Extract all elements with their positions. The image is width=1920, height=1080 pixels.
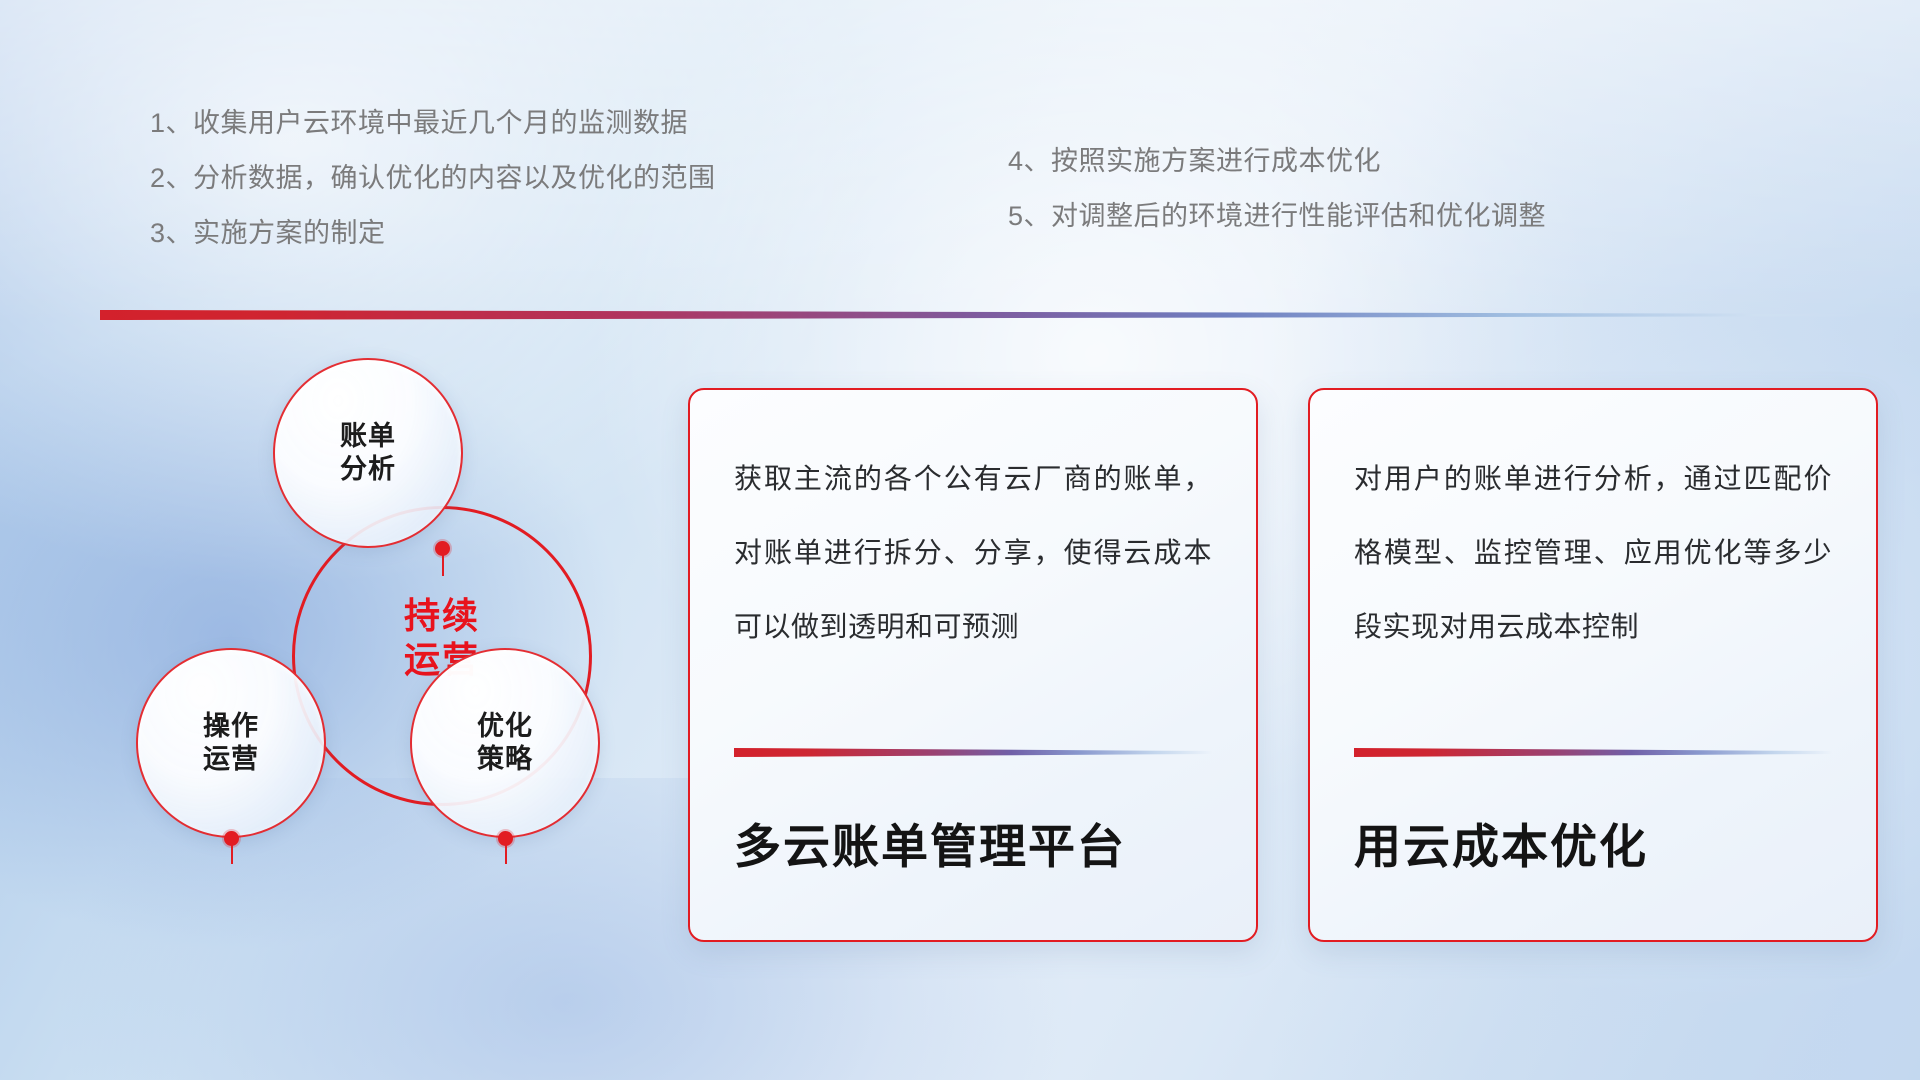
diagram-bubble-operations[interactable]: 操作 运营 <box>136 648 326 838</box>
header-divider <box>100 310 1860 320</box>
diagram-connector-left <box>231 844 233 864</box>
diagram-connector-top <box>442 554 444 576</box>
diagram-node-dot-top <box>435 541 450 556</box>
diagram-node-dot-right <box>498 831 513 846</box>
step-item-1: 1、收集用户云环境中最近几个月的监测数据 <box>150 96 716 151</box>
slide-canvas: 1、收集用户云环境中最近几个月的监测数据 2、分析数据，确认优化的内容以及优化的… <box>0 0 1920 1080</box>
card-1-title: 多云账单管理平台 <box>734 808 1226 877</box>
step-item-3: 3、实施方案的制定 <box>150 206 716 261</box>
card-2-title: 用云成本优化 <box>1354 808 1846 877</box>
diagram-node-dot-left <box>224 831 239 846</box>
bubble-top-line-1: 账单 <box>340 420 396 453</box>
card-2-rule <box>1354 748 1832 757</box>
diagram-center-label-line-1: 持续 <box>292 594 592 638</box>
continuous-operation-diagram: 持续 运营 账单 分析 操作 运营 优化 策略 <box>96 358 616 918</box>
card-1-rule <box>734 748 1212 757</box>
header-divider-bar <box>100 310 1860 320</box>
bubble-top-line-2: 分析 <box>340 453 396 486</box>
card-2-body: 对用户的账单进行分析，通过匹配价格模型、监控管理、应用优化等多少段实现对用云成本… <box>1354 442 1832 664</box>
card-multi-cloud-billing-platform[interactable]: 获取主流的各个公有云厂商的账单，对账单进行拆分、分享，使得云成本可以做到透明和可… <box>688 388 1258 942</box>
bubble-left-line-2: 运营 <box>203 743 259 776</box>
bubble-left-line-1: 操作 <box>203 710 259 743</box>
card-cloud-cost-optimization[interactable]: 对用户的账单进行分析，通过匹配价格模型、监控管理、应用优化等多少段实现对用云成本… <box>1308 388 1878 942</box>
steps-column-left: 1、收集用户云环境中最近几个月的监测数据 2、分析数据，确认优化的内容以及优化的… <box>150 96 716 261</box>
diagram-bubble-bill-analysis[interactable]: 账单 分析 <box>273 358 463 548</box>
bubble-right-line-2: 策略 <box>477 743 533 776</box>
bubble-right-line-1: 优化 <box>477 710 533 743</box>
steps-block: 1、收集用户云环境中最近几个月的监测数据 2、分析数据，确认优化的内容以及优化的… <box>150 96 1790 256</box>
diagram-connector-right <box>505 844 507 864</box>
card-1-body: 获取主流的各个公有云厂商的账单，对账单进行拆分、分享，使得云成本可以做到透明和可… <box>734 442 1212 664</box>
steps-column-right: 4、按照实施方案进行成本优化 5、对调整后的环境进行性能评估和优化调整 <box>1008 134 1546 244</box>
step-item-5: 5、对调整后的环境进行性能评估和优化调整 <box>1008 189 1546 244</box>
step-item-2: 2、分析数据，确认优化的内容以及优化的范围 <box>150 151 716 206</box>
diagram-bubble-optimization-strategy[interactable]: 优化 策略 <box>410 648 600 838</box>
step-item-4: 4、按照实施方案进行成本优化 <box>1008 134 1546 189</box>
